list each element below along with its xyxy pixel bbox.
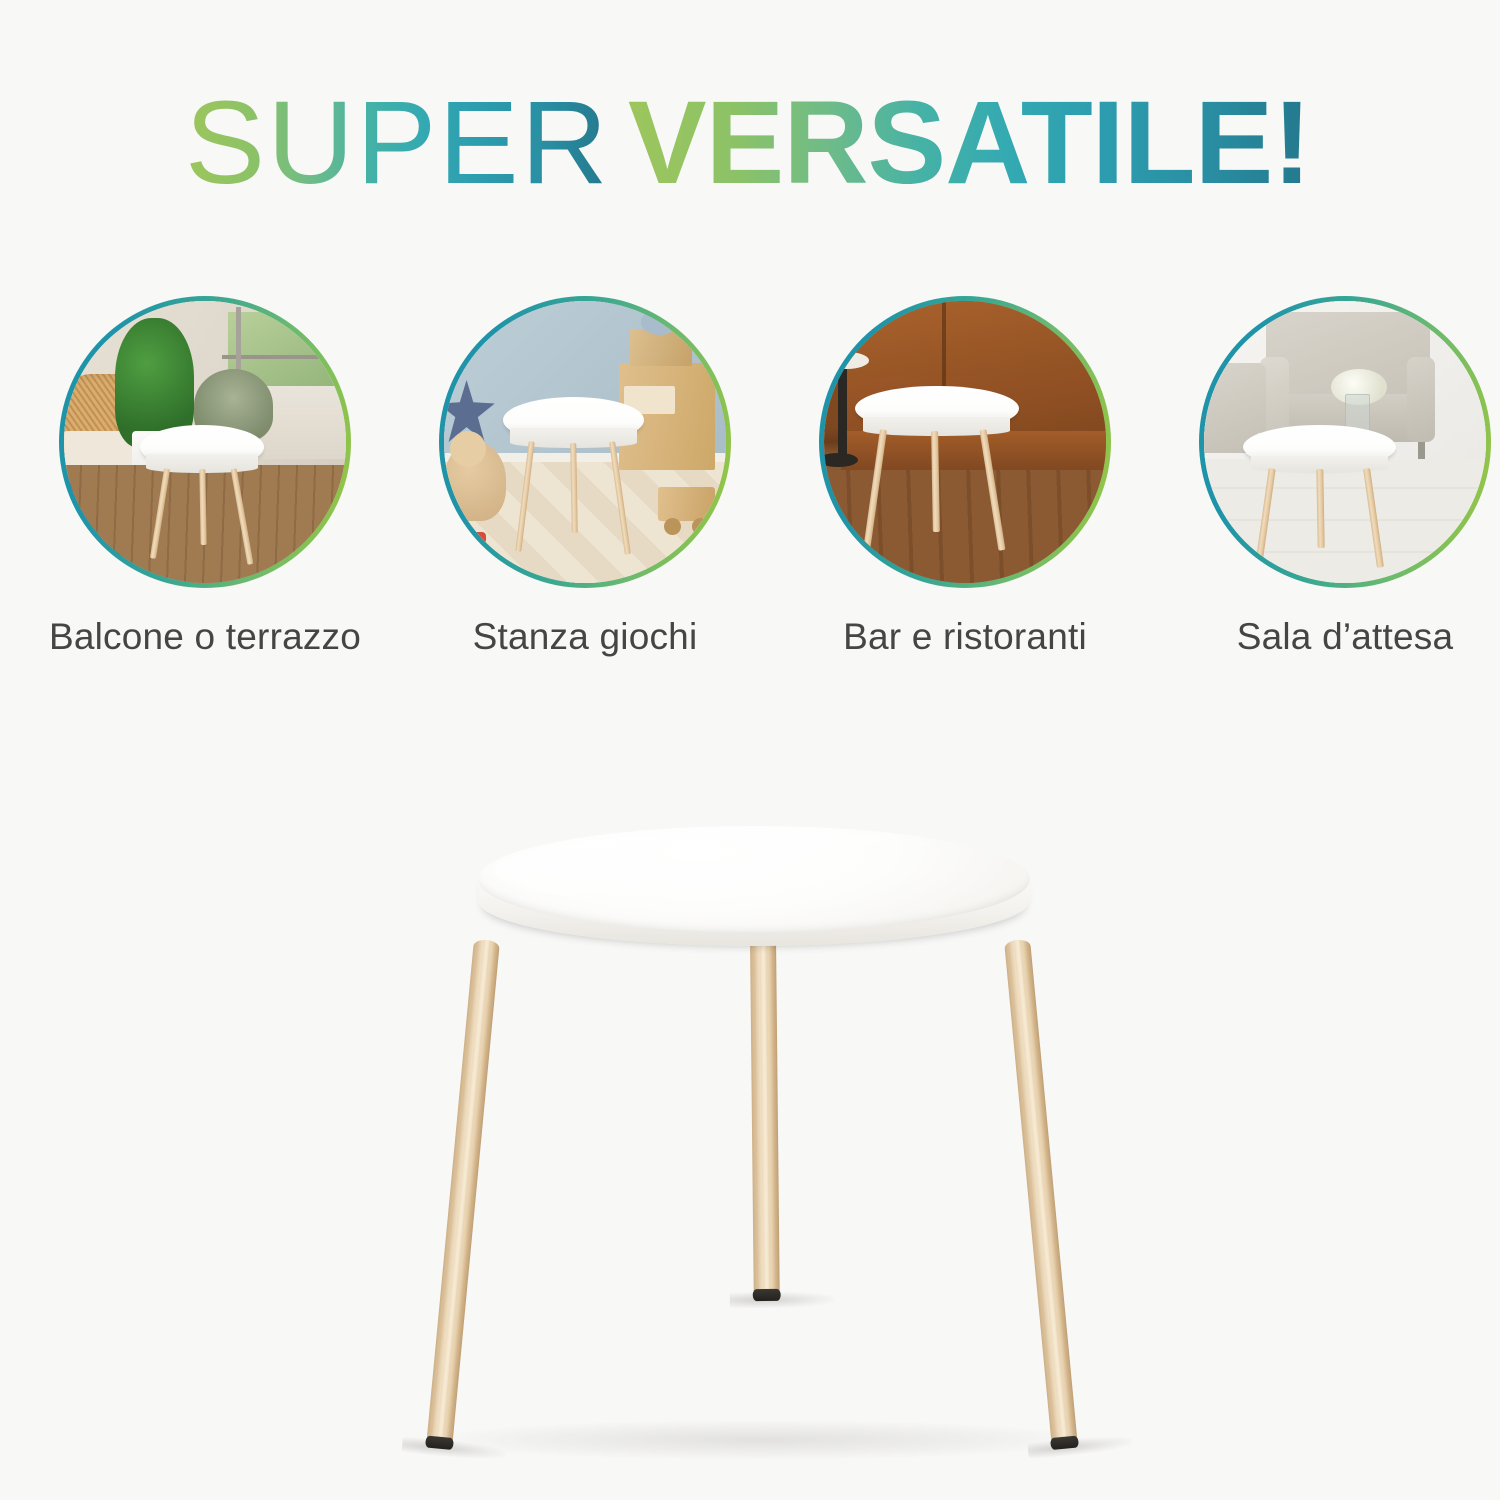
caption-playroom: Stanza giochi — [385, 616, 785, 658]
thumb-image-bar — [824, 301, 1106, 583]
use-case-thumbnail-row — [0, 296, 1500, 596]
headline-word-versatile: VERSATILE! — [628, 84, 1311, 202]
scene-bar-restaurant — [824, 301, 1106, 583]
page-title: SUPERVERSATILE! — [0, 84, 1500, 202]
leg-foot-shadow — [730, 1291, 834, 1308]
use-case-caption-row: Balcone o terrazzo Stanza giochi Bar e r… — [0, 616, 1500, 676]
hero-floor-shadow — [430, 1420, 1090, 1460]
headline-word-super: SUPER — [185, 84, 610, 202]
leg-foot-cap — [425, 1435, 454, 1450]
poster-canvas: SUPERVERSATILE! — [0, 0, 1500, 1500]
scene-waiting-room — [1204, 301, 1486, 583]
use-case-thumb-playroom[interactable] — [439, 296, 731, 588]
caption-balcony: Balcone o terrazzo — [5, 616, 405, 658]
use-case-thumb-waiting-room[interactable] — [1199, 296, 1491, 588]
use-case-thumb-bar[interactable] — [819, 296, 1111, 588]
thumb-image-balcony — [64, 301, 346, 583]
scene-kids-playroom — [444, 301, 726, 583]
hero-tabletop-surface — [478, 826, 1030, 932]
hero-product-image — [0, 780, 1500, 1500]
hero-table-leg-center — [750, 938, 780, 1298]
thumb-image-playroom — [444, 301, 726, 583]
leg-foot-cap — [753, 1289, 781, 1301]
gradient-ring-border — [59, 296, 351, 588]
hero-table-leg-right — [1004, 939, 1078, 1447]
gradient-ring-border — [819, 296, 1111, 588]
use-case-thumb-balcony[interactable] — [59, 296, 351, 588]
leg-wood-grain — [1004, 939, 1078, 1447]
hero-table-leg-left — [426, 939, 500, 1447]
gradient-ring-border — [439, 296, 731, 588]
caption-waiting-room: Sala d’attesa — [1145, 616, 1500, 658]
thumb-image-waiting-room — [1204, 301, 1486, 583]
caption-bar: Bar e ristoranti — [765, 616, 1165, 658]
leg-wood-grain — [426, 939, 500, 1447]
gradient-ring-border — [1199, 296, 1491, 588]
scene-balcony-terrace — [64, 301, 346, 583]
leg-wood-grain — [750, 938, 780, 1298]
